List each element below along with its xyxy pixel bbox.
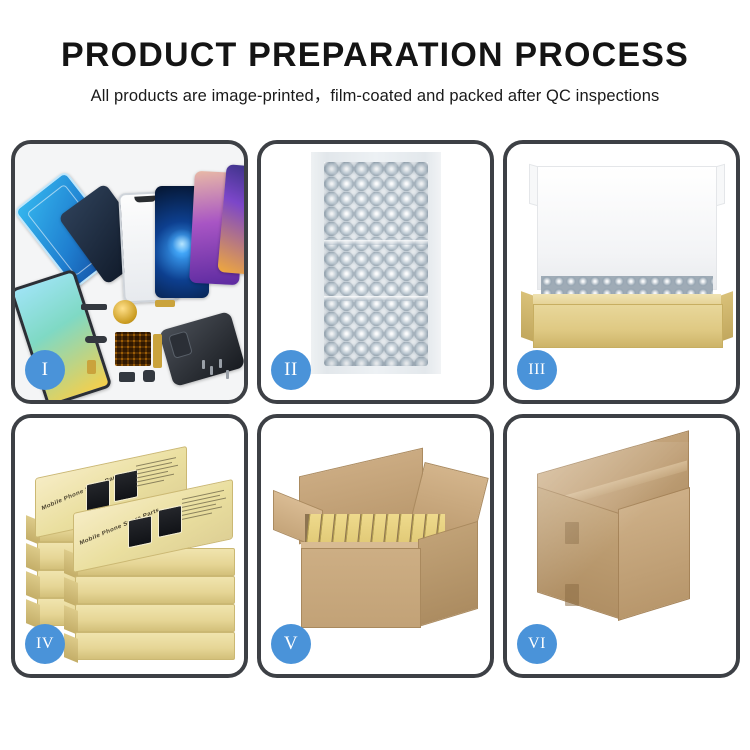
step-panel-6: VI	[503, 414, 740, 678]
wrap-fold-2	[324, 296, 428, 301]
step-5-image: V	[261, 418, 490, 674]
step-panel-4: Mobile Phone Spare Parts Mobile Phone Sp…	[11, 414, 248, 678]
chip-part-3	[119, 372, 135, 382]
wrap-fold-1	[324, 240, 428, 245]
box-spec-lines	[182, 489, 226, 528]
chip-part-1	[81, 304, 107, 310]
step-3-image: III	[507, 144, 736, 400]
white-box-lid	[537, 166, 717, 290]
flex-cable-1	[155, 300, 175, 307]
step-badge-5: V	[271, 624, 311, 664]
carton-right-face	[418, 521, 478, 627]
kraft-box-front	[533, 304, 723, 348]
process-grid: I II III	[11, 140, 740, 678]
step-1-image: I	[15, 144, 244, 400]
step-badge-2: II	[271, 350, 311, 390]
infographic-page: PRODUCT PREPARATION PROCESS All products…	[0, 0, 750, 750]
bubble-wrap-texture	[324, 162, 428, 366]
step-badge-1: I	[25, 350, 65, 390]
page-subtitle: All products are image-printed，film-coat…	[0, 82, 750, 106]
sealed-carton-right-face	[618, 487, 690, 621]
step-badge-6: VI	[517, 624, 557, 664]
page-title: PRODUCT PREPARATION PROCESS	[0, 34, 750, 76]
header: PRODUCT PREPARATION PROCESS All products…	[0, 34, 750, 106]
carton-mark-bottom	[565, 584, 579, 606]
step-badge-4: IV	[25, 624, 65, 664]
stacked-box	[75, 576, 235, 604]
carton-front-face	[301, 548, 421, 628]
step-panel-3: III	[503, 140, 740, 404]
step-6-image: VI	[507, 418, 736, 674]
chip-part-4	[143, 370, 155, 382]
flex-cable-3	[87, 360, 96, 374]
stacked-box	[75, 604, 235, 632]
step-4-image: Mobile Phone Spare Parts Mobile Phone Sp…	[15, 418, 244, 674]
step-2-image: II	[261, 144, 490, 400]
speaker-coil-part	[113, 300, 137, 324]
screw-set	[200, 358, 234, 386]
flex-cable-2	[153, 334, 162, 368]
box-spec-lines	[136, 456, 180, 495]
connector-grid-part	[115, 332, 151, 366]
step-panel-1: I	[11, 140, 248, 404]
chip-part-2	[85, 336, 107, 343]
stacked-box	[75, 632, 235, 660]
step-panel-2: II	[257, 140, 494, 404]
step-panel-5: V	[257, 414, 494, 678]
step-badge-3: III	[517, 350, 557, 390]
carton-mark-top	[565, 522, 579, 544]
